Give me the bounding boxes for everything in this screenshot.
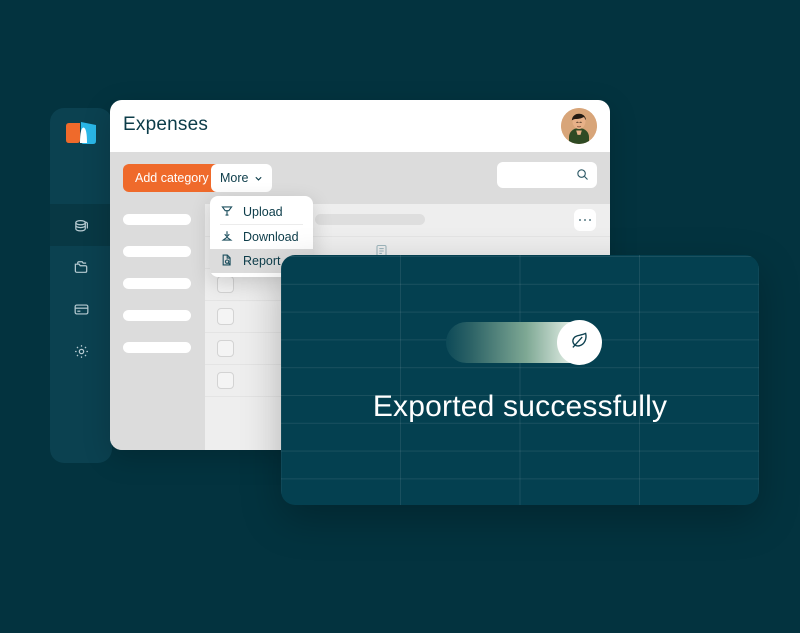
search-icon [576, 168, 589, 181]
list-item[interactable] [123, 214, 191, 225]
sidebar-item-cards[interactable] [50, 288, 112, 330]
menu-item-download[interactable]: Download [210, 225, 313, 249]
leaf-badge [557, 320, 602, 365]
chevron-down-icon [254, 174, 263, 183]
download-icon [220, 229, 234, 246]
sidebar-item-expenses[interactable] [50, 204, 112, 246]
gear-icon [73, 343, 90, 360]
list-item[interactable] [123, 342, 191, 353]
add-category-button[interactable]: Add category [123, 164, 221, 192]
checkbox-unchecked-icon[interactable] [217, 308, 234, 325]
list-item[interactable] [123, 310, 191, 321]
coins-icon [73, 217, 90, 234]
sidebar-nav [50, 204, 112, 372]
upload-icon [220, 204, 234, 221]
list-item[interactable] [123, 278, 191, 289]
menu-item-label: Upload [243, 205, 283, 219]
page-title: Expenses [123, 114, 208, 136]
brand-logo[interactable] [63, 119, 99, 149]
user-avatar[interactable] [561, 108, 597, 144]
report-document-icon [220, 253, 234, 270]
search-input[interactable] [497, 162, 597, 188]
category-list [110, 204, 205, 450]
menu-item-label: Download [243, 230, 299, 244]
more-button-label: More [220, 171, 248, 185]
list-item[interactable] [123, 246, 191, 257]
menu-item-upload[interactable]: Upload [210, 200, 313, 224]
checkbox-unchecked-icon[interactable] [217, 372, 234, 389]
toast-message: Exported successfully [281, 390, 759, 424]
leaf-icon [567, 328, 592, 358]
grid-background [281, 255, 759, 505]
row-title-placeholder [315, 214, 425, 225]
credit-card-icon [73, 301, 90, 318]
more-horizontal-icon[interactable] [574, 209, 596, 231]
window-toolbar: Add category More [110, 152, 610, 204]
folders-icon [73, 259, 90, 276]
export-toast-panel: Exported successfully [281, 255, 759, 505]
screenshot-stage: Expenses Add category More [0, 0, 800, 633]
more-button[interactable]: More [211, 164, 272, 192]
checkbox-unchecked-icon[interactable] [217, 276, 234, 293]
menu-item-label: Report [243, 254, 281, 268]
app-sidebar [50, 108, 112, 463]
sidebar-item-folders[interactable] [50, 246, 112, 288]
checkbox-unchecked-icon[interactable] [217, 340, 234, 357]
window-header: Expenses [110, 100, 610, 152]
sidebar-item-settings[interactable] [50, 330, 112, 372]
